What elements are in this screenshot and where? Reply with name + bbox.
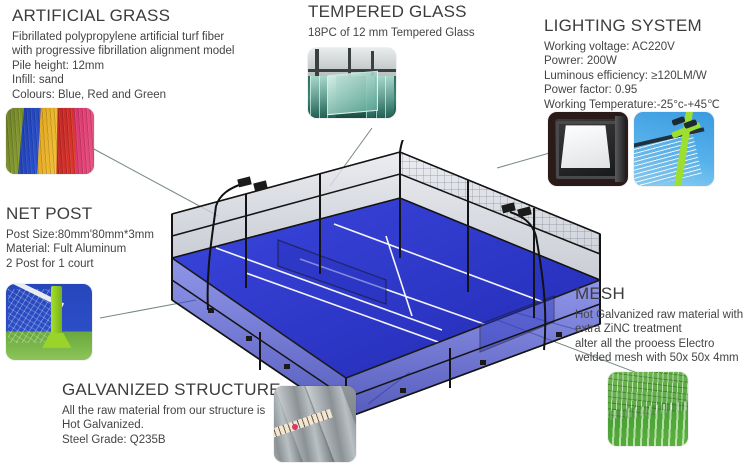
artificial-grass-line-3: Pile height: 12mm bbox=[12, 59, 302, 74]
infographic-canvas: ARTIFICIAL GRASS Fibrillated polypropyle… bbox=[0, 0, 750, 472]
artificial-grass-line-1: Fibrillated polypropylene artificial tur… bbox=[12, 30, 302, 45]
artificial-turf-colour-samples-photo bbox=[6, 108, 94, 174]
section-artificial-grass: ARTIFICIAL GRASS Fibrillated polypropyle… bbox=[12, 6, 302, 102]
section-tempered-glass: TEMPERED GLASS 18PC of 12 mm Tempered Gl… bbox=[308, 2, 538, 40]
lighting-line-2: Powrer: 200W bbox=[544, 54, 750, 69]
artificial-grass-line-4: Infill: sand bbox=[12, 73, 302, 88]
green-welded-wire-mesh-photo bbox=[608, 372, 688, 446]
lighting-line-4: Power factor: 0.95 bbox=[544, 83, 750, 98]
net-post-title: NET POST bbox=[6, 204, 186, 224]
artificial-grass-title: ARTIFICIAL GRASS bbox=[12, 6, 302, 26]
light-pole-center bbox=[400, 140, 418, 152]
tempered-glass-line-1: 18PC of 12 mm Tempered Glass bbox=[308, 26, 538, 41]
section-mesh: MESH Hot Galvanized raw material with ex… bbox=[575, 284, 750, 366]
tempered-glass-text: 18PC of 12 mm Tempered Glass bbox=[308, 26, 538, 41]
artificial-grass-line-2: with progressive fibrillation alignment … bbox=[12, 44, 302, 59]
mesh-line-2: extra ZiNC treatment bbox=[575, 322, 750, 337]
lighting-line-5: Working Temperature:-25°c-+45℃ bbox=[544, 98, 750, 113]
artificial-grass-text: Fibrillated polypropylene artificial tur… bbox=[12, 30, 302, 103]
tempered-glass-title: TEMPERED GLASS bbox=[308, 2, 538, 22]
mesh-line-4: welded mesh with 50x 50x 4mm bbox=[575, 351, 750, 366]
net-post-line-2: Material: Fult Aluminum bbox=[6, 242, 186, 257]
lighting-line-1: Working voltage: AC220V bbox=[544, 40, 750, 55]
stacked-tempered-glass-panels-photo bbox=[308, 48, 396, 118]
section-lighting-system: LIGHTING SYSTEM Working voltage: AC220V … bbox=[544, 16, 750, 112]
lighting-line-3: Luminous efficiency: ≥120LM/W bbox=[544, 69, 750, 84]
led-floodlight-photo bbox=[548, 112, 628, 186]
mesh-title: MESH bbox=[575, 284, 750, 304]
mesh-text: Hot Galvanized raw material with extra Z… bbox=[575, 308, 750, 366]
green-net-post-on-court-photo bbox=[6, 284, 92, 360]
section-net-post: NET POST Post Size:80mm'80mm*3mm Materia… bbox=[6, 204, 186, 271]
green-light-pole-sky-photo bbox=[634, 112, 714, 186]
lighting-system-text: Working voltage: AC220V Powrer: 200W Lum… bbox=[544, 40, 750, 113]
lighting-system-title: LIGHTING SYSTEM bbox=[544, 16, 750, 36]
galvanized-steel-tubes-measuring-photo bbox=[274, 386, 356, 462]
mesh-line-1: Hot Galvanized raw material with bbox=[575, 308, 750, 323]
net-post-text: Post Size:80mm'80mm*3mm Material: Fult A… bbox=[6, 228, 186, 272]
mesh-line-3: alter all the prooess Electro bbox=[575, 337, 750, 352]
net-post-line-3: 2 Post for 1 court bbox=[6, 257, 186, 272]
artificial-grass-line-5: Colours: Blue, Red and Green bbox=[12, 88, 302, 103]
floodlight-left-a bbox=[237, 176, 252, 187]
net-post-line-1: Post Size:80mm'80mm*3mm bbox=[6, 228, 186, 243]
